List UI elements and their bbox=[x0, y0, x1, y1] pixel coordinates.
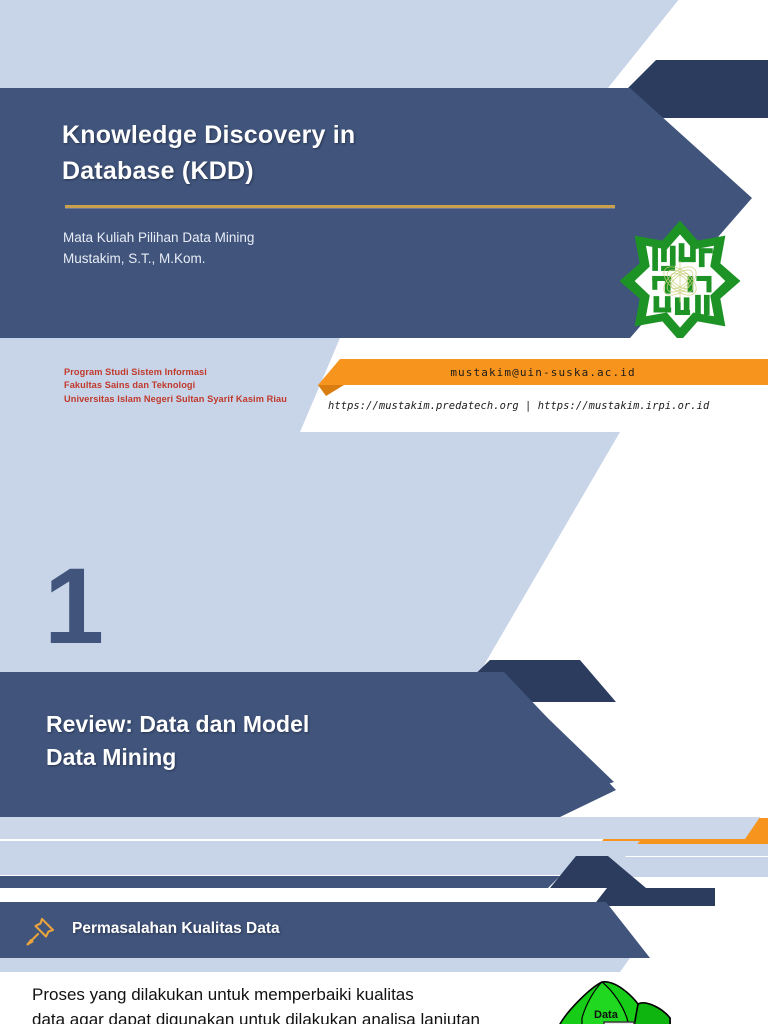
slide2-title-line1: Review: Data dan Model bbox=[46, 708, 476, 741]
slide-2-section: 1 Review: Data dan Model Data Mining bbox=[0, 432, 768, 888]
slide1-affiliation: Program Studi Sistem Informasi Fakultas … bbox=[64, 366, 324, 406]
affiliation-line-2: Fakultas Sains dan Teknologi bbox=[64, 379, 324, 392]
slide1-title-line2: Database (KDD) bbox=[62, 154, 582, 190]
slide1-website-links[interactable]: https://mustakim.predatech.org | https:/… bbox=[328, 400, 768, 412]
slide3-body-line-1: Proses yang dilakukan untuk memperbaiki … bbox=[32, 984, 522, 1007]
slide2-title-line2: Data Mining bbox=[46, 741, 476, 774]
slide2-stripe-1 bbox=[0, 817, 768, 839]
affiliation-line-3: Universitas Islam Negeri Sultan Syarif K… bbox=[64, 393, 324, 406]
slide-deck-page: Knowledge Discovery in Database (KDD) Ma… bbox=[0, 0, 768, 1024]
slide1-subtitle-line1: Mata Kuliah Pilihan Data Mining bbox=[63, 228, 563, 249]
slide2-title: Review: Data dan Model Data Mining bbox=[46, 708, 476, 773]
slide-1-title: Knowledge Discovery in Database (KDD) Ma… bbox=[0, 0, 768, 432]
slide1-lower-white-area bbox=[300, 338, 768, 432]
slide1-subtitle: Mata Kuliah Pilihan Data Mining Mustakim… bbox=[63, 228, 563, 269]
slide1-gold-divider bbox=[65, 205, 615, 208]
slide1-email-text[interactable]: mustakim@uin-suska.ac.id bbox=[318, 359, 768, 385]
affiliation-line-1: Program Studi Sistem Informasi bbox=[64, 366, 324, 379]
slide-3-content: Permasalahan Kualitas Data Proses yang d… bbox=[0, 888, 768, 1024]
svg-text:Data: Data bbox=[594, 1009, 619, 1021]
slide3-header-title: Permasalahan Kualitas Data bbox=[72, 920, 280, 938]
slide3-body-line-2: data agar dapat digunakan untuk dilakuka… bbox=[32, 1009, 552, 1024]
pushpin-icon bbox=[22, 914, 58, 950]
slide1-title-line1: Knowledge Discovery in bbox=[62, 118, 582, 154]
slide3-header-underbar bbox=[0, 958, 768, 972]
green-data-mountain-clipart: Data bbox=[520, 978, 700, 1024]
uin-suska-logo bbox=[605, 218, 755, 344]
slide1-title: Knowledge Discovery in Database (KDD) bbox=[62, 118, 582, 189]
slide1-subtitle-line2: Mustakim, S.T., M.Kom. bbox=[63, 249, 563, 270]
slide2-stripe-3 bbox=[0, 876, 768, 888]
slide2-section-number: 1 bbox=[44, 560, 104, 652]
